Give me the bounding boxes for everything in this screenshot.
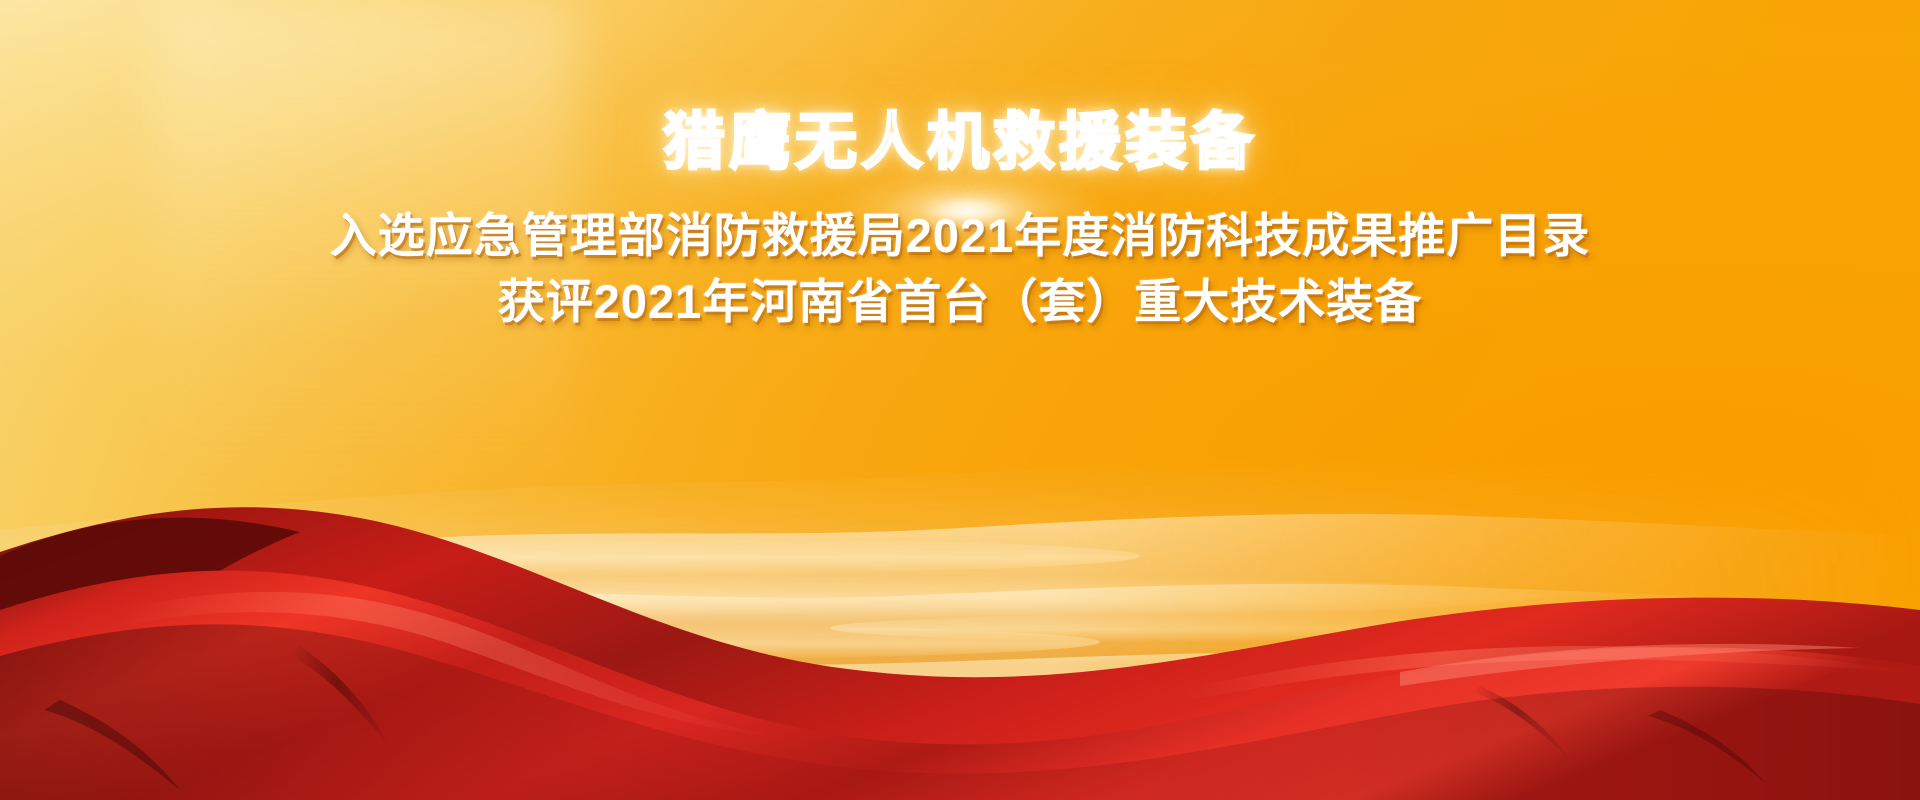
banner-headline: 猎鹰无人机救援装备 (663, 0, 1257, 177)
banner-subtitle-line-2: 获评2021年河南省首台（套）重大技术装备 (0, 267, 1920, 332)
red-silk-ribbon (0, 460, 1920, 800)
banner-content: 猎鹰无人机救援装备 入选应急管理部消防救援局2021年度消防科技成果推广目录 获… (0, 0, 1920, 332)
promo-banner: 猎鹰无人机救援装备 入选应急管理部消防救援局2021年度消防科技成果推广目录 获… (0, 0, 1920, 800)
banner-subtitle-line-1: 入选应急管理部消防救援局2021年度消防科技成果推广目录 (0, 177, 1920, 266)
